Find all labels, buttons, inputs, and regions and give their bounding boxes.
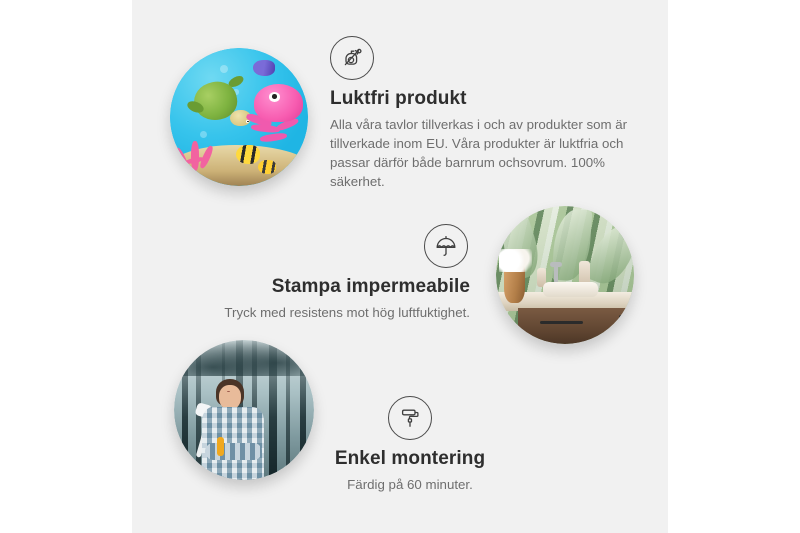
feature-description: Färdig på 60 minuter. [300,475,520,494]
sink-basin [543,282,598,297]
feature-title: Luktfri produkt [330,88,630,110]
photo-circle-ocean [170,48,308,186]
coral-illustration [176,129,223,170]
feature-description: Tryck med resistens mot hög luftfuktighe… [180,303,470,322]
feature-waterproof-print: Stampa impermeabile Tryck med resistens … [180,224,470,322]
forest-canopy [174,340,314,376]
feature-title: Enkel montering [300,448,520,470]
white-flowers [499,249,532,272]
bubble-icon [220,65,228,73]
purple-fish-icon [253,60,275,75]
paint-roller-icon [388,396,432,440]
vanity-cabinet [518,308,634,344]
person-with-roller [199,379,269,480]
octopus-illustration [245,84,306,150]
faucet [554,264,558,283]
feature-odour-free: Luktfri produkt Alla våra tavlor tillver… [330,36,630,191]
infographic-canvas: Luktfri produkt Alla våra tavlor tillver… [0,0,800,533]
umbrella-icon [424,224,468,268]
photo-circle-forest [174,340,314,480]
striped-fish-icon [236,145,259,164]
turtle-illustration [189,80,247,130]
feature-description: Alla våra tavlor tillverkas i och av pro… [330,115,630,191]
no-odour-spray-bottle-icon [330,36,374,80]
feature-title: Stampa impermeabile [180,276,470,298]
photo-circle-bathroom [496,206,634,344]
feature-easy-mounting: Enkel montering Färdig på 60 minuter. [300,396,520,494]
striped-fish-icon [258,160,276,174]
